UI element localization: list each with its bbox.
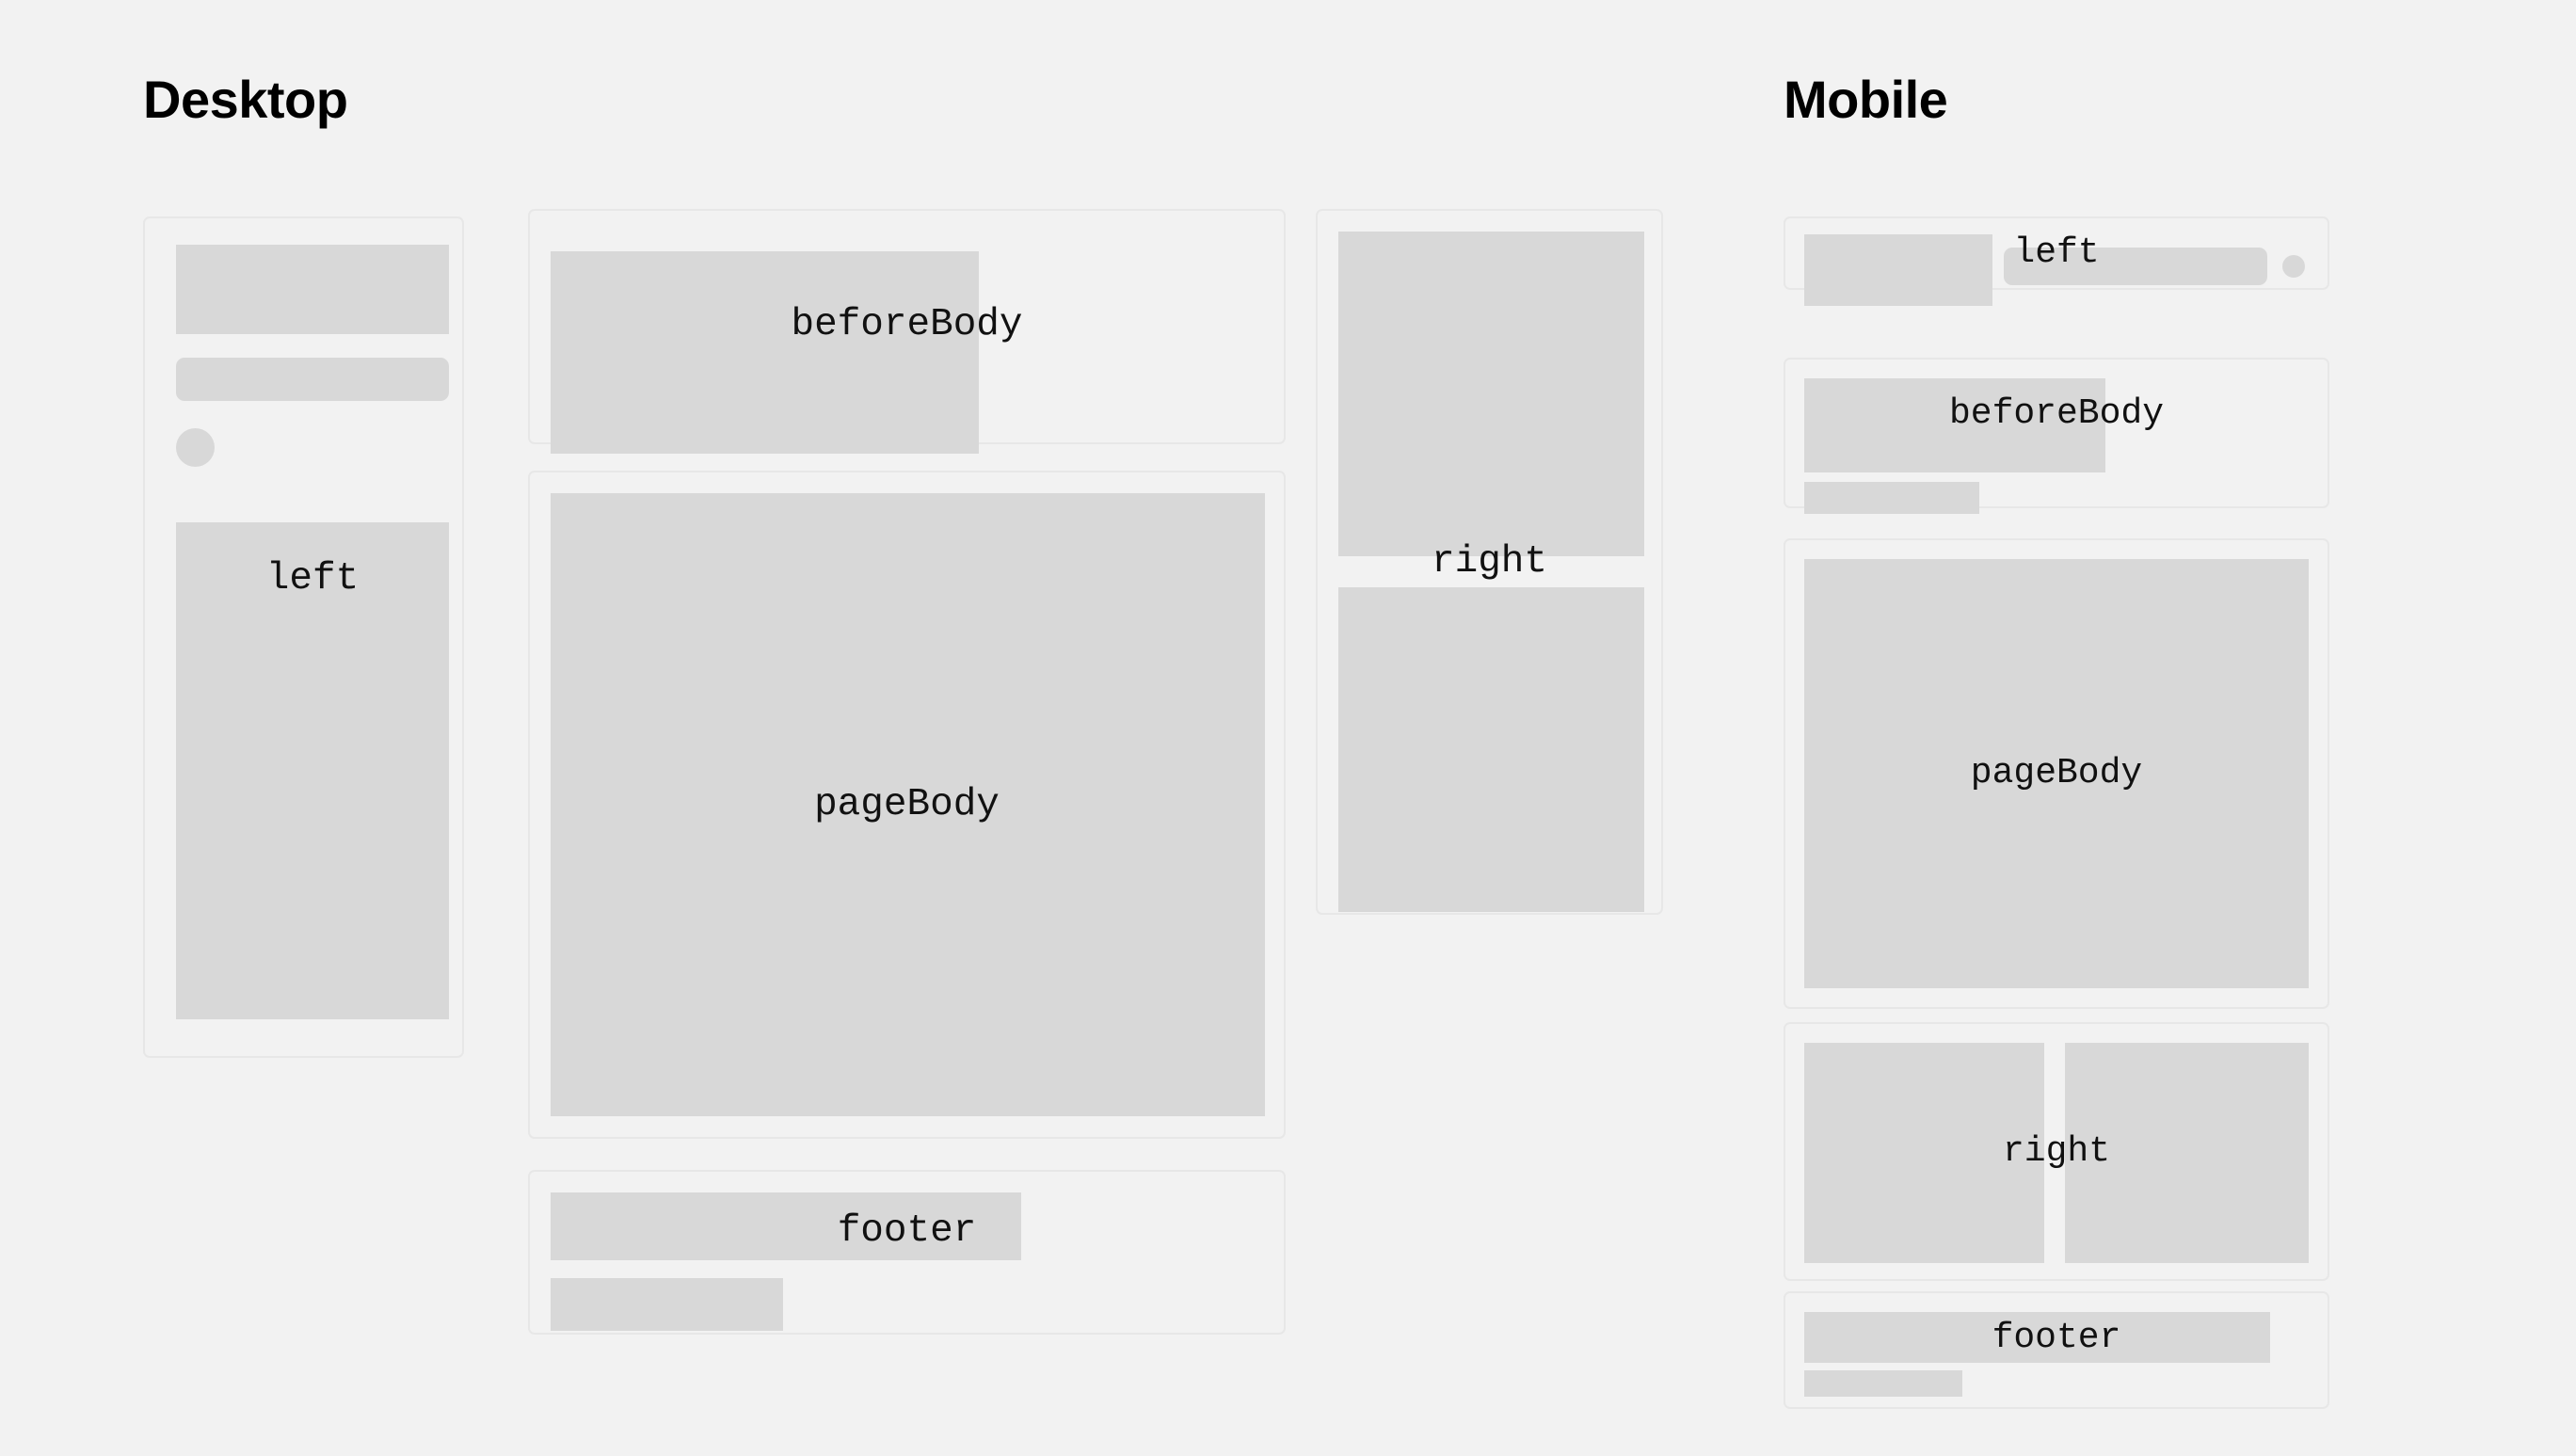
mobile-region-footer-panel[interactable] xyxy=(1784,1291,2329,1409)
desktop-region-footer-panel[interactable] xyxy=(528,1170,1286,1335)
desktop-region-left-panel[interactable]: left xyxy=(143,216,464,1058)
skeleton-block-small xyxy=(1804,1370,1962,1397)
skeleton-block xyxy=(176,245,449,334)
mobile-region-pagebody-panel[interactable] xyxy=(1784,538,2329,1009)
layout-preview-canvas: Desktop left beforeBody pageBody right f… xyxy=(0,0,2576,1456)
skeleton-block xyxy=(1804,234,1992,306)
skeleton-block-large xyxy=(1804,559,2309,988)
mobile-region-left-panel[interactable] xyxy=(1784,216,2329,290)
skeleton-block xyxy=(1804,1043,2044,1263)
skeleton-dot-circle xyxy=(2282,255,2305,278)
desktop-region-pagebody-panel[interactable] xyxy=(528,471,1286,1139)
skeleton-block-tall xyxy=(176,522,449,1019)
skeleton-block xyxy=(1338,587,1644,912)
skeleton-block-small xyxy=(1804,482,1979,514)
skeleton-block xyxy=(551,251,979,454)
desktop-region-beforebody-panel[interactable] xyxy=(528,209,1286,444)
desktop-region-right-panel[interactable] xyxy=(1316,209,1663,915)
skeleton-avatar-circle xyxy=(176,428,215,467)
skeleton-block-large xyxy=(551,493,1265,1116)
skeleton-block xyxy=(1804,378,2105,472)
skeleton-block-small xyxy=(551,1278,783,1331)
skeleton-block xyxy=(1338,232,1644,556)
section-title-desktop: Desktop xyxy=(143,73,347,126)
mobile-region-right-panel[interactable] xyxy=(1784,1022,2329,1281)
skeleton-block xyxy=(551,1192,1021,1260)
skeleton-block-rounded xyxy=(2004,248,2267,285)
mobile-region-beforebody-panel[interactable] xyxy=(1784,358,2329,508)
skeleton-block-rounded xyxy=(176,358,449,401)
skeleton-block xyxy=(2065,1043,2309,1263)
skeleton-block xyxy=(1804,1312,2270,1363)
section-title-mobile: Mobile xyxy=(1784,73,1947,126)
